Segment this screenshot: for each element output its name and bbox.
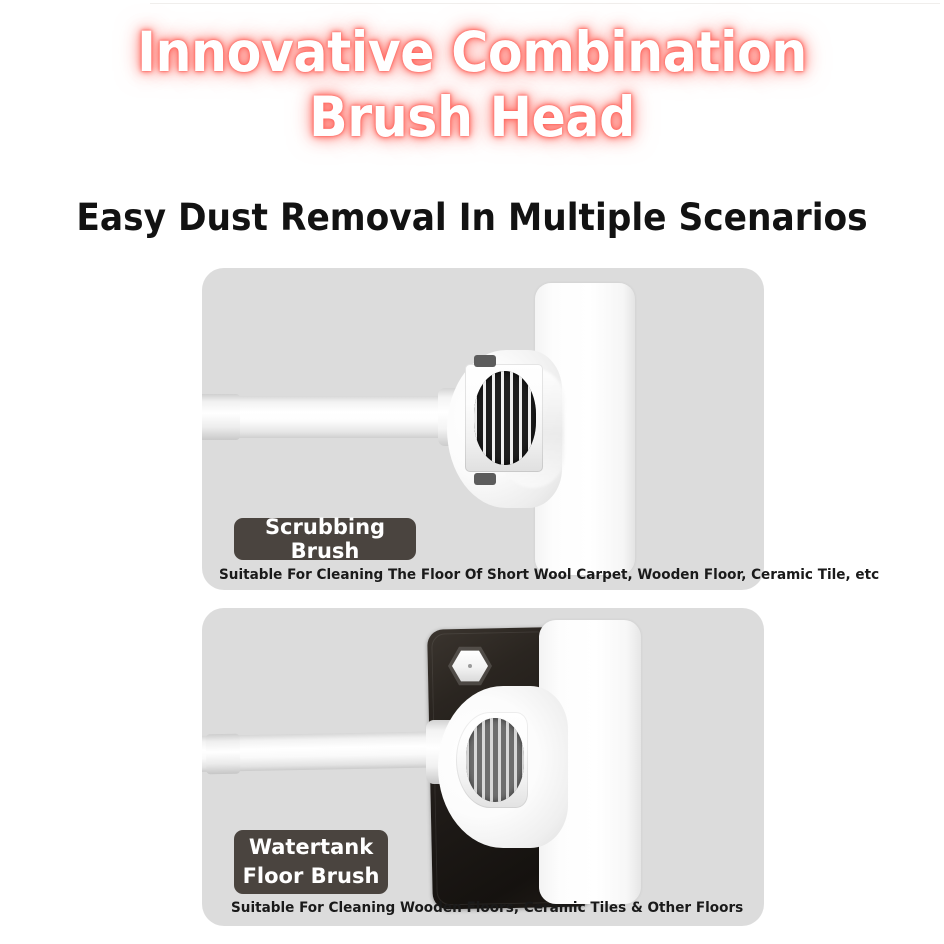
badge-label-line-1: Watertank bbox=[249, 833, 373, 862]
vacuum-wand-tube bbox=[202, 396, 462, 438]
caption-watertank-floor-brush: Suitable For Cleaning Wooden Floors, Cer… bbox=[231, 900, 743, 916]
page-title: Innovative Combination Brush Head bbox=[38, 20, 906, 150]
ribbed-bellows-joint bbox=[466, 718, 524, 802]
badge-scrubbing-brush: Scrubbing Brush bbox=[234, 518, 416, 560]
badge-watertank-floor-brush: Watertank Floor Brush bbox=[234, 830, 388, 894]
page-title-line-2: Brush Head bbox=[38, 85, 906, 150]
swivel-clip-bottom-icon bbox=[474, 473, 496, 485]
hexagon-cap-center-dot-icon bbox=[468, 664, 472, 668]
swivel-clip-top-icon bbox=[474, 355, 496, 367]
badge-label-line-2: Floor Brush bbox=[243, 862, 380, 891]
product-feature-page: Innovative Combination Brush Head Easy D… bbox=[0, 0, 944, 944]
caption-scrubbing-brush: Suitable For Cleaning The Floor Of Short… bbox=[219, 567, 879, 583]
wand-collar bbox=[206, 734, 241, 775]
ribbed-bellows-joint bbox=[474, 371, 536, 465]
badge-label: Scrubbing Brush bbox=[234, 515, 416, 563]
page-title-line-1: Innovative Combination bbox=[137, 20, 807, 84]
page-subtitle: Easy Dust Removal In Multiple Scenarios bbox=[33, 196, 911, 240]
wand-collar bbox=[202, 394, 240, 440]
top-divider-line bbox=[150, 3, 940, 4]
